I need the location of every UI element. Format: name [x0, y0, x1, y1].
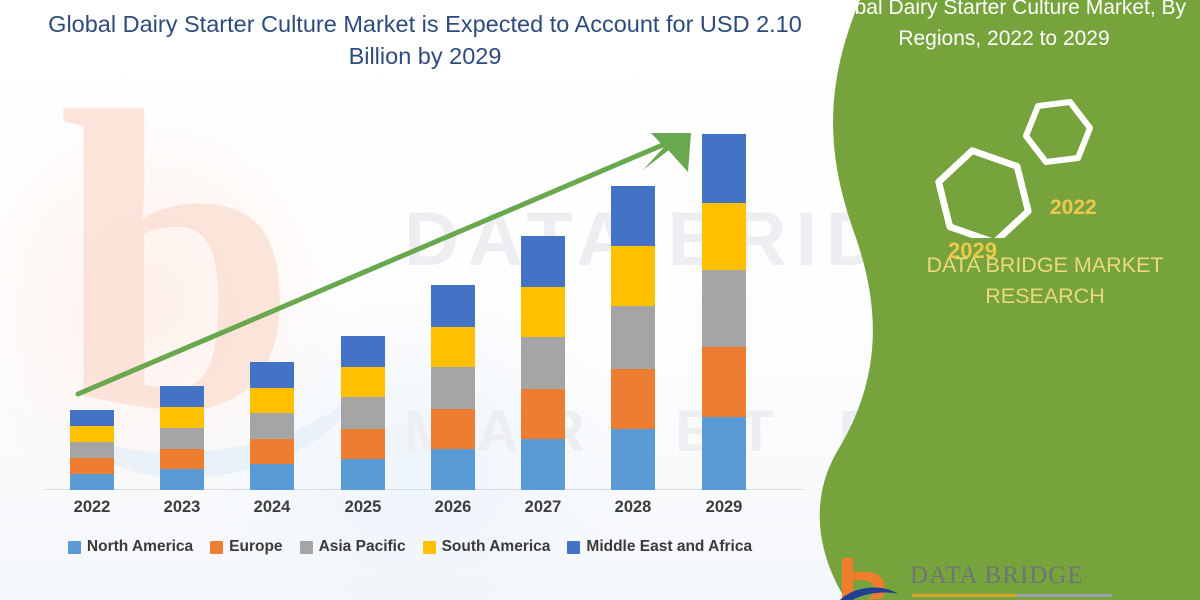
legend-swatch-icon — [68, 541, 81, 554]
bar-segment — [160, 469, 204, 490]
bar-segment — [250, 362, 294, 388]
bar-segment — [431, 327, 475, 367]
bar-segment — [431, 367, 475, 409]
hexagon-badges: 2029 2022 — [918, 78, 1118, 238]
bar-segment — [611, 186, 655, 246]
bar-segment — [521, 439, 565, 490]
legend-swatch-icon — [423, 541, 436, 554]
bar-segment — [702, 134, 746, 203]
legend-swatch-icon — [567, 541, 580, 554]
x-axis-line — [44, 489, 804, 490]
bar-segment — [431, 285, 475, 327]
bar-segment — [70, 458, 114, 474]
bar-segment — [521, 389, 565, 439]
bar-segment — [521, 337, 565, 389]
logo-name: DATA BRIDGE — [910, 562, 1084, 590]
bar-segment — [160, 428, 204, 449]
panel-brand-text: DATA BRIDGE MARKET RESEARCH — [890, 250, 1200, 312]
bar-2023 — [160, 386, 204, 490]
bar-2027 — [521, 236, 565, 490]
x-axis-label-2026: 2026 — [413, 498, 493, 517]
bar-segment — [611, 429, 655, 490]
x-axis-label-2024: 2024 — [232, 498, 312, 517]
bar-segment — [611, 246, 655, 306]
bar-2025 — [341, 336, 385, 490]
logo-divider — [912, 594, 1112, 597]
bar-2026 — [431, 285, 475, 490]
bar-segment — [341, 459, 385, 490]
legend-item-asia-pacific[interactable]: Asia Pacific — [300, 538, 406, 556]
bar-2022 — [70, 410, 114, 490]
x-axis-label-2027: 2027 — [503, 498, 583, 517]
logo-b-icon — [838, 556, 898, 600]
bar-2029 — [702, 134, 746, 490]
legend-swatch-icon — [300, 541, 313, 554]
legend-label: Europe — [229, 538, 282, 556]
legend-item-south-america[interactable]: South America — [423, 538, 551, 556]
hexagon-label-2022: 2022 — [1050, 196, 1097, 220]
x-axis-label-2022: 2022 — [52, 498, 132, 517]
legend-label: South America — [442, 538, 551, 556]
data-bridge-logo: DATA BRIDGE MARKET RESEARCH — [838, 556, 1168, 600]
bar-segment — [702, 270, 746, 347]
infographic-canvas: b DATA BRIDGE MARKET RESEARCH Global Dai… — [0, 0, 1200, 600]
legend-item-europe[interactable]: Europe — [210, 538, 282, 556]
x-axis-label-2025: 2025 — [323, 498, 403, 517]
bar-segment — [341, 367, 385, 397]
bar-segment — [341, 336, 385, 367]
bar-segment — [431, 449, 475, 490]
bar-segment — [341, 397, 385, 429]
x-axis-label-2023: 2023 — [142, 498, 222, 517]
bar-segment — [70, 442, 114, 458]
bar-segment — [250, 464, 294, 490]
chart-plot-area: 20222023202420252026202720282029 — [0, 0, 820, 600]
bar-segment — [521, 236, 565, 287]
x-axis-label-2029: 2029 — [684, 498, 764, 517]
bar-segment — [341, 429, 385, 459]
legend-item-north-america[interactable]: North America — [68, 538, 193, 556]
bar-segment — [70, 474, 114, 490]
bar-2024 — [250, 362, 294, 490]
bar-segment — [250, 439, 294, 464]
panel-title: Global Dairy Starter Culture Market, By … — [808, 0, 1200, 54]
x-axis-label-2028: 2028 — [593, 498, 673, 517]
bar-segment — [702, 347, 746, 417]
bar-segment — [160, 449, 204, 469]
legend-swatch-icon — [210, 541, 223, 554]
legend-item-middle-east-and-africa[interactable]: Middle East and Africa — [567, 538, 752, 556]
bar-segment — [702, 203, 746, 270]
bar-2028 — [611, 186, 655, 490]
bar-segment — [70, 426, 114, 442]
bar-segment — [611, 306, 655, 369]
chart-legend: North AmericaEuropeAsia PacificSouth Ame… — [0, 538, 820, 556]
legend-label: Asia Pacific — [319, 538, 406, 556]
legend-label: Middle East and Africa — [586, 538, 752, 556]
bar-segment — [702, 417, 746, 490]
bar-segment — [431, 409, 475, 449]
bar-segment — [70, 410, 114, 426]
bar-segment — [250, 413, 294, 439]
bar-segment — [611, 369, 655, 429]
bar-segment — [250, 388, 294, 413]
bar-segment — [160, 386, 204, 407]
legend-label: North America — [87, 538, 193, 556]
bar-segment — [160, 407, 204, 428]
bar-segment — [521, 287, 565, 337]
